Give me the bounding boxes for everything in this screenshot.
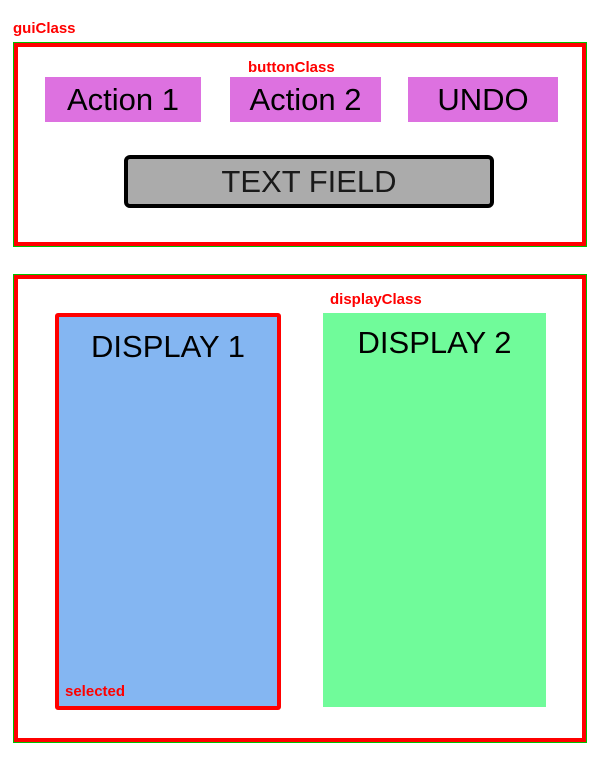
display-class-label: displayClass — [330, 291, 422, 308]
display-2-box[interactable]: DISPLAY 2 — [323, 313, 546, 707]
display-2-title: DISPLAY 2 — [323, 325, 546, 361]
button-class-label: buttonClass — [248, 59, 335, 76]
gui-class-label: guiClass — [13, 20, 76, 37]
text-field[interactable]: TEXT FIELD — [124, 155, 494, 208]
display-1-title: DISPLAY 1 — [59, 329, 277, 365]
action-2-button[interactable]: Action 2 — [230, 77, 381, 122]
display-1-selected-tag: selected — [65, 683, 125, 700]
undo-button[interactable]: UNDO — [408, 77, 558, 122]
action-1-button[interactable]: Action 1 — [45, 77, 201, 122]
display-1-box[interactable]: DISPLAY 1 selected — [55, 313, 281, 710]
